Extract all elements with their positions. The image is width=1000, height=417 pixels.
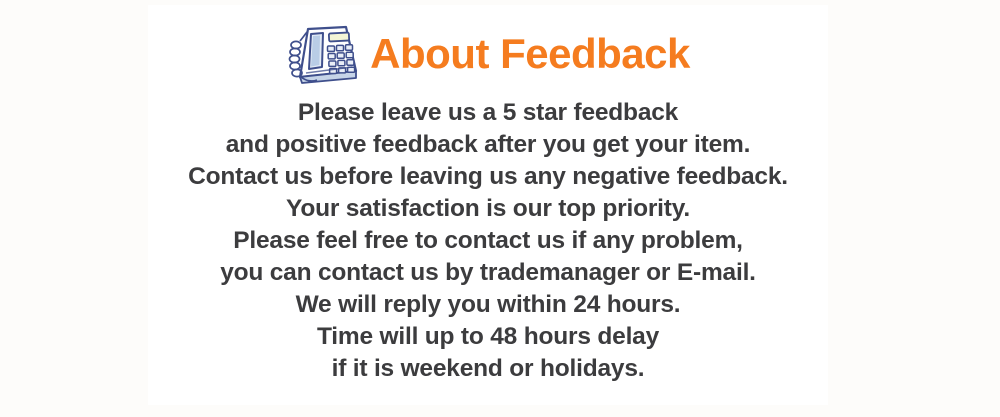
message-line: We will reply you within 24 hours.	[148, 289, 828, 321]
message-line: you can contact us by trademanager or E-…	[148, 257, 828, 289]
fax-machine-icon	[286, 21, 360, 87]
message-line: Please feel free to contact us if any pr…	[148, 225, 828, 257]
feedback-banner: About Feedback Please leave us a 5 star …	[0, 0, 1000, 417]
message-line: and positive feedback after you get your…	[148, 129, 828, 161]
message-line: Time will up to 48 hours delay	[148, 321, 828, 353]
content-panel: About Feedback Please leave us a 5 star …	[148, 5, 828, 405]
message-line: Contact us before leaving us any negativ…	[148, 161, 828, 193]
banner-header: About Feedback	[148, 18, 828, 90]
message-line: Please leave us a 5 star feedback	[148, 97, 828, 129]
message-line: Your satisfaction is our top priority.	[148, 193, 828, 225]
page-title: About Feedback	[370, 33, 690, 75]
feedback-message: Please leave us a 5 star feedback and po…	[148, 97, 828, 385]
message-line: if it is weekend or holidays.	[148, 353, 828, 385]
